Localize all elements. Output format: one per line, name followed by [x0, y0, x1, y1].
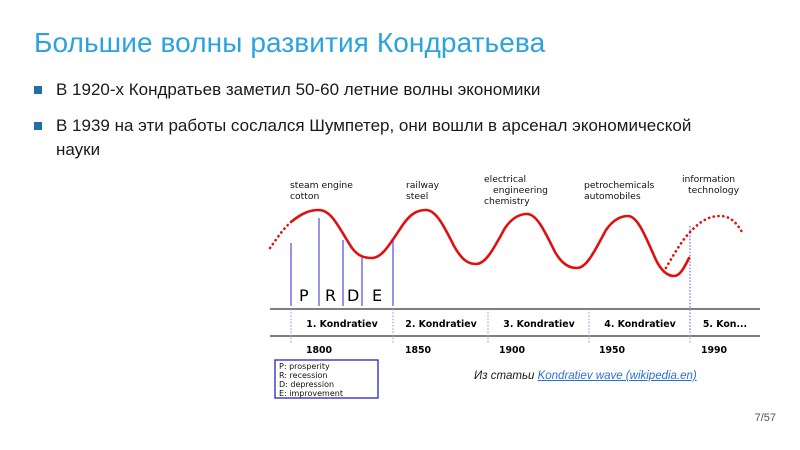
phase-letters: P R D E [299, 286, 382, 305]
page-title: Большие волны развития Кондратьева [34, 26, 545, 60]
bullet-text: В 1920-х Кондратьев заметил 50-60 летние… [56, 78, 540, 102]
page-number: 7/57 [755, 412, 776, 424]
wave-curve-dotted-end [666, 216, 742, 268]
wave-label-line: technology [688, 185, 740, 196]
cycle-label: 2. Kondratiev [405, 319, 476, 330]
year-tick-label: 1990 [701, 345, 728, 356]
bullet-list: В 1920-х Кондратьев заметил 50-60 летние… [34, 78, 734, 174]
wave-label-line: automobiles [584, 191, 641, 202]
wave-label-group-2: railway steel [406, 180, 440, 202]
phase-letter-p: P [299, 286, 309, 305]
wave-label-group-5: information technology [682, 174, 740, 196]
source-caption: Из статьи Kondratiev wave (wikipedia.en) [474, 370, 697, 382]
legend-entry: R: recession [279, 371, 327, 380]
wave-label-group-1: steam engine cotton [290, 180, 353, 202]
wave-curve-solid [291, 210, 689, 276]
phase-letter-d: D [347, 286, 359, 305]
phase-marker-lines [291, 218, 690, 333]
legend-entry: E: improvement [279, 389, 343, 398]
wave-label-line: steam engine [290, 180, 353, 191]
list-item: В 1920-х Кондратьев заметил 50-60 летние… [34, 78, 734, 102]
wave-label-line: chemistry [484, 196, 530, 207]
year-tick-label: 1850 [405, 345, 432, 356]
legend-entry: D: depression [279, 380, 334, 389]
source-link[interactable]: Kondratiev wave (wikipedia.en) [538, 370, 697, 382]
wave-label-line: engineering [493, 185, 548, 196]
cycle-label: 1. Kondratiev [306, 319, 377, 330]
bullet-text: В 1939 на эти работы сослался Шумпетер, … [56, 114, 696, 162]
phase-letter-e: E [372, 286, 382, 305]
bullet-square-icon [34, 86, 42, 94]
wave-label-line: electrical [484, 174, 526, 185]
list-item: В 1939 на эти работы сослался Шумпетер, … [34, 114, 734, 162]
year-tick-label: 1950 [599, 345, 626, 356]
cycle-label: 3. Kondratiev [503, 319, 574, 330]
year-axis: 1800 1850 1900 1950 1990 [306, 345, 728, 356]
wave-label-line: cotton [290, 191, 319, 202]
phase-letter-r: R [325, 286, 336, 305]
wave-label-line: steel [406, 191, 428, 202]
cycle-labels: 1. Kondratiev 2. Kondratiev 3. Kondratie… [306, 319, 747, 330]
wave-label-line: railway [406, 180, 440, 191]
phase-legend-box: P: prosperity R: recession D: depression… [275, 360, 378, 398]
cycle-label: 4. Kondratiev [604, 319, 675, 330]
wave-curve-dotted-start [270, 222, 291, 248]
cycle-label: 5. Kon... [703, 319, 747, 330]
wave-label-line: information [682, 174, 735, 185]
source-prefix: Из статьи [474, 370, 534, 382]
bullet-square-icon [34, 122, 42, 130]
wave-label-group-4: petrochemicals automobiles [584, 180, 655, 202]
wave-label-line: petrochemicals [584, 180, 655, 191]
wave-label-group-3: electrical engineering chemistry [484, 174, 548, 207]
year-tick-label: 1800 [306, 345, 333, 356]
kondratiev-wave-figure: steam engine cotton railway steel electr… [262, 168, 772, 400]
year-tick-label: 1900 [499, 345, 526, 356]
legend-entry: P: prosperity [279, 362, 330, 371]
wave-curve [270, 210, 742, 276]
